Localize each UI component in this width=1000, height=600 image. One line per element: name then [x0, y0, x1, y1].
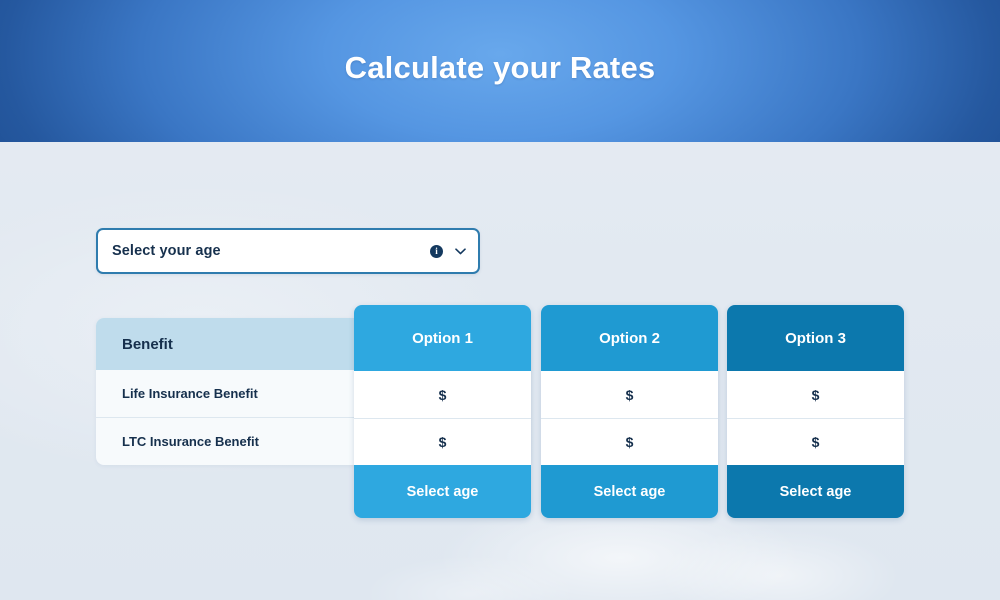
page-title: Calculate your Rates	[0, 50, 1000, 86]
header-banner: Calculate your Rates	[0, 0, 1000, 142]
option-card[interactable]: Option 2 $ $ Select age	[541, 305, 718, 518]
select-age-button[interactable]: Select age	[354, 465, 531, 518]
age-select-label: Select your age	[112, 243, 430, 259]
chevron-down-icon[interactable]	[454, 245, 466, 257]
option-card[interactable]: Option 3 $ $ Select age	[727, 305, 904, 518]
option-card-title: Option 2	[541, 305, 718, 371]
age-select-dropdown[interactable]: Select your age i	[96, 228, 480, 274]
option-card-title: Option 1	[354, 305, 531, 371]
benefit-row-label: Life Insurance Benefit	[122, 386, 258, 401]
info-icon[interactable]: i	[430, 245, 443, 258]
option-value-cell: $	[541, 371, 718, 418]
option-value-cell: $	[541, 418, 718, 465]
option-value-cell: $	[354, 371, 531, 418]
benefit-column-header-label: Benefit	[122, 336, 173, 353]
option-card[interactable]: Option 1 $ $ Select age	[354, 305, 531, 518]
benefit-row-label: LTC Insurance Benefit	[122, 434, 259, 449]
select-age-button[interactable]: Select age	[541, 465, 718, 518]
select-age-button[interactable]: Select age	[727, 465, 904, 518]
option-value-cell: $	[727, 371, 904, 418]
option-value-cell: $	[354, 418, 531, 465]
option-card-title: Option 3	[727, 305, 904, 371]
option-value-cell: $	[727, 418, 904, 465]
